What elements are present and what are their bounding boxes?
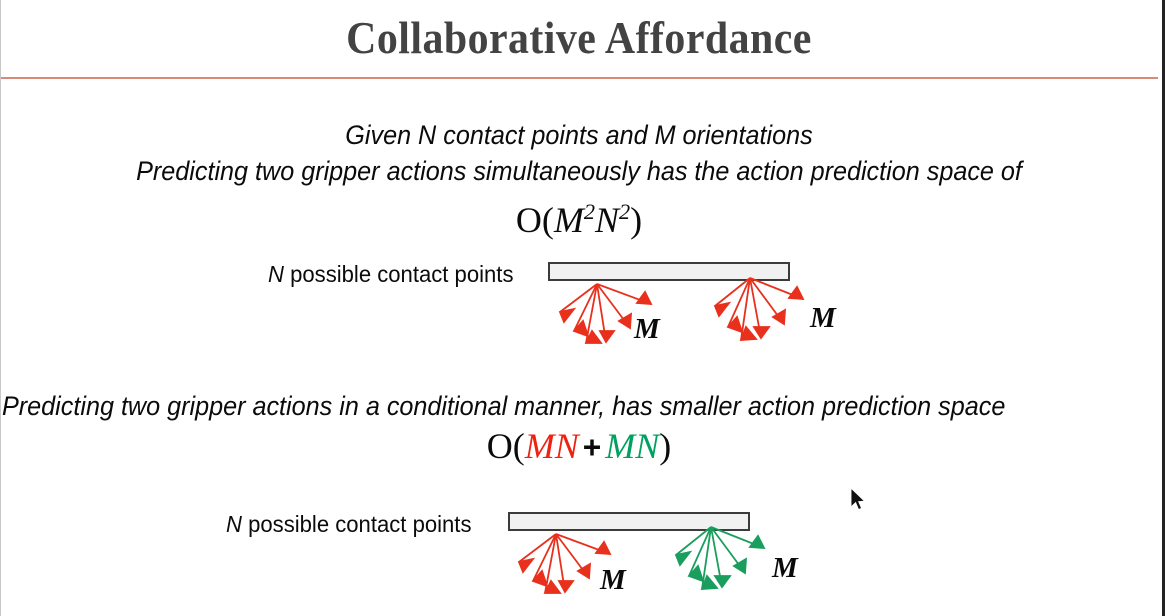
fan-green-right-bottom	[0, 0, 1158, 616]
slide-canvas: Collaborative Affordance Given N contact…	[0, 0, 1165, 616]
fan-green-right-bottom-label: M	[772, 553, 798, 583]
